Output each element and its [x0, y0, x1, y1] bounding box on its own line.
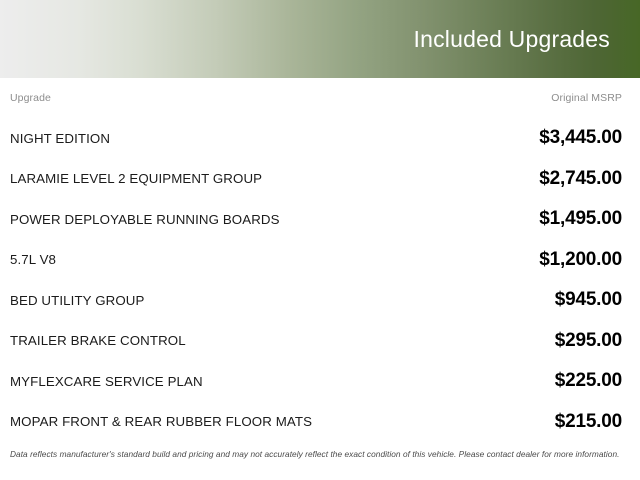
upgrade-price: $2,745.00 — [539, 168, 622, 190]
upgrade-price: $295.00 — [555, 330, 622, 352]
upgrade-price: $1,495.00 — [539, 208, 622, 230]
included-upgrades-panel: Included Upgrades Upgrade Original MSRP … — [0, 0, 640, 480]
page-title: Included Upgrades — [414, 28, 610, 51]
disclaimer-text: Data reflects manufacturer's standard bu… — [10, 450, 630, 460]
column-header-upgrade: Upgrade — [10, 92, 51, 104]
table-row: POWER DEPLOYABLE RUNNING BOARDS$1,495.00 — [10, 199, 622, 240]
upgrades-table: Upgrade Original MSRP NIGHT EDITION$3,44… — [0, 78, 640, 442]
table-row: 5.7L V8$1,200.00 — [10, 240, 622, 281]
upgrade-name: BED UTILITY GROUP — [10, 293, 156, 308]
table-row: MYFLEXCARE SERVICE PLAN$225.00 — [10, 361, 622, 402]
upgrade-name: MYFLEXCARE SERVICE PLAN — [10, 374, 215, 389]
table-row: MOPAR FRONT & REAR RUBBER FLOOR MATS$215… — [10, 402, 622, 443]
upgrade-name: NIGHT EDITION — [10, 131, 122, 146]
table-row: LARAMIE LEVEL 2 EQUIPMENT GROUP$2,745.00 — [10, 159, 622, 200]
upgrade-price: $3,445.00 — [539, 127, 622, 149]
table-row: TRAILER BRAKE CONTROL$295.00 — [10, 321, 622, 362]
table-row: NIGHT EDITION$3,445.00 — [10, 118, 622, 159]
upgrade-name: TRAILER BRAKE CONTROL — [10, 333, 198, 348]
upgrade-price: $1,200.00 — [539, 249, 622, 271]
upgrade-price: $215.00 — [555, 411, 622, 433]
upgrade-price: $945.00 — [555, 289, 622, 311]
upgrade-name: 5.7L V8 — [10, 252, 68, 267]
column-header-original-msrp: Original MSRP — [551, 92, 622, 104]
upgrade-price: $225.00 — [555, 370, 622, 392]
upgrade-name: MOPAR FRONT & REAR RUBBER FLOOR MATS — [10, 414, 324, 429]
table-column-header-row: Upgrade Original MSRP — [10, 78, 622, 118]
disclaimer-area: Data reflects manufacturer's standard bu… — [0, 442, 640, 460]
header-banner: Included Upgrades — [0, 0, 640, 78]
upgrade-name: POWER DEPLOYABLE RUNNING BOARDS — [10, 212, 292, 227]
table-row: BED UTILITY GROUP$945.00 — [10, 280, 622, 321]
upgrade-name: LARAMIE LEVEL 2 EQUIPMENT GROUP — [10, 171, 274, 186]
table-body: NIGHT EDITION$3,445.00LARAMIE LEVEL 2 EQ… — [10, 118, 622, 442]
